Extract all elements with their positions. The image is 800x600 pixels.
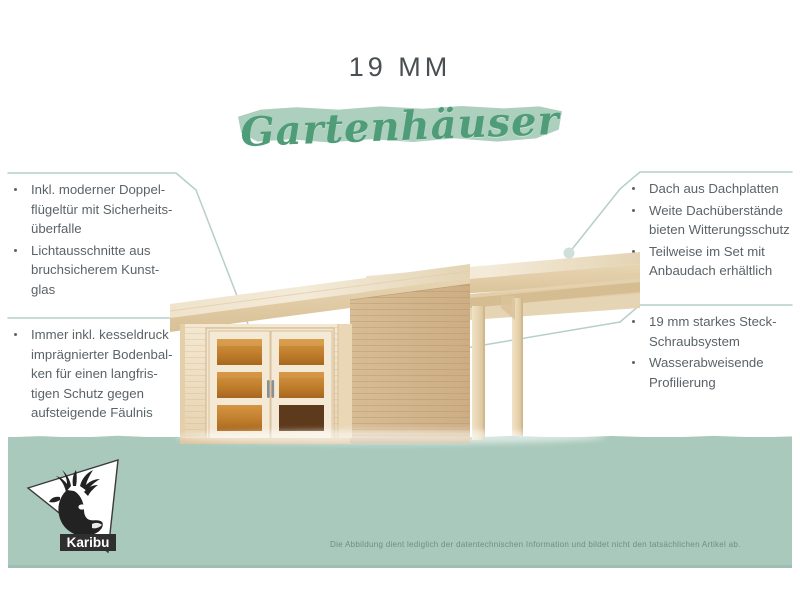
list-item: Dach aus Dachplatten: [626, 179, 798, 199]
list-item: Immer inkl. kesseldruck imprägnierter Bo…: [8, 325, 184, 423]
list-item: Inkl. moderner Doppel-flügeltür mit Sich…: [8, 180, 180, 239]
callout-bottom-right-list: 19 mm starkes Steck-Schraubsystem Wasser…: [626, 312, 798, 392]
logo-brand-text: Karibu: [67, 535, 110, 550]
callout-bottom-left: Immer inkl. kesseldruck imprägnierter Bo…: [8, 325, 184, 425]
karibu-logo: Karibu: [22, 452, 132, 560]
list-item: Teilweise im Set mit Anbaudach erhältlic…: [626, 242, 798, 281]
list-item: Wasserabweisende Profilierung: [626, 353, 798, 392]
ground-shadow: [175, 430, 605, 444]
callout-bottom-left-list: Immer inkl. kesseldruck imprägnierter Bo…: [8, 325, 184, 423]
list-item: Weite Dachüberstände bieten Witterungssc…: [626, 201, 798, 240]
door-pane: [217, 405, 262, 431]
callout-top-left-list: Inkl. moderner Doppel-flügeltür mit Sich…: [8, 180, 180, 299]
callout-top-right-list: Dach aus Dachplatten Weite Dachüberständ…: [626, 179, 798, 281]
deer-eye: [78, 504, 85, 509]
side-wall: [350, 284, 470, 442]
script-title-wrapper: Gartenhäuser: [232, 98, 568, 154]
door-handle-right: [272, 380, 275, 398]
thickness-headline: 19 MM: [0, 52, 800, 83]
infographic-canvas: 19 MM Gartenhäuser: [0, 0, 800, 600]
ground-band-bottom-line: [8, 565, 792, 568]
callout-top-left: Inkl. moderner Doppel-flügeltür mit Sich…: [8, 180, 180, 301]
garden-house-illustration: [170, 238, 640, 454]
footer-disclaimer: Die Abbildung dient lediglich der datent…: [330, 539, 792, 550]
list-item: 19 mm starkes Steck-Schraubsystem: [626, 312, 798, 351]
open-canopy: [470, 278, 640, 438]
list-item: Lichtausschnitte aus bruchsicherem Kunst…: [8, 241, 180, 300]
callout-bottom-right: 19 mm starkes Steck-Schraubsystem Wasser…: [626, 312, 798, 394]
support-post-left: [472, 306, 485, 440]
door-pane: [279, 405, 324, 431]
door-handle-left: [267, 380, 270, 398]
script-title: Gartenhäuser: [231, 92, 569, 161]
double-door: [206, 328, 334, 442]
callout-top-right: Dach aus Dachplatten Weite Dachüberständ…: [626, 179, 798, 283]
